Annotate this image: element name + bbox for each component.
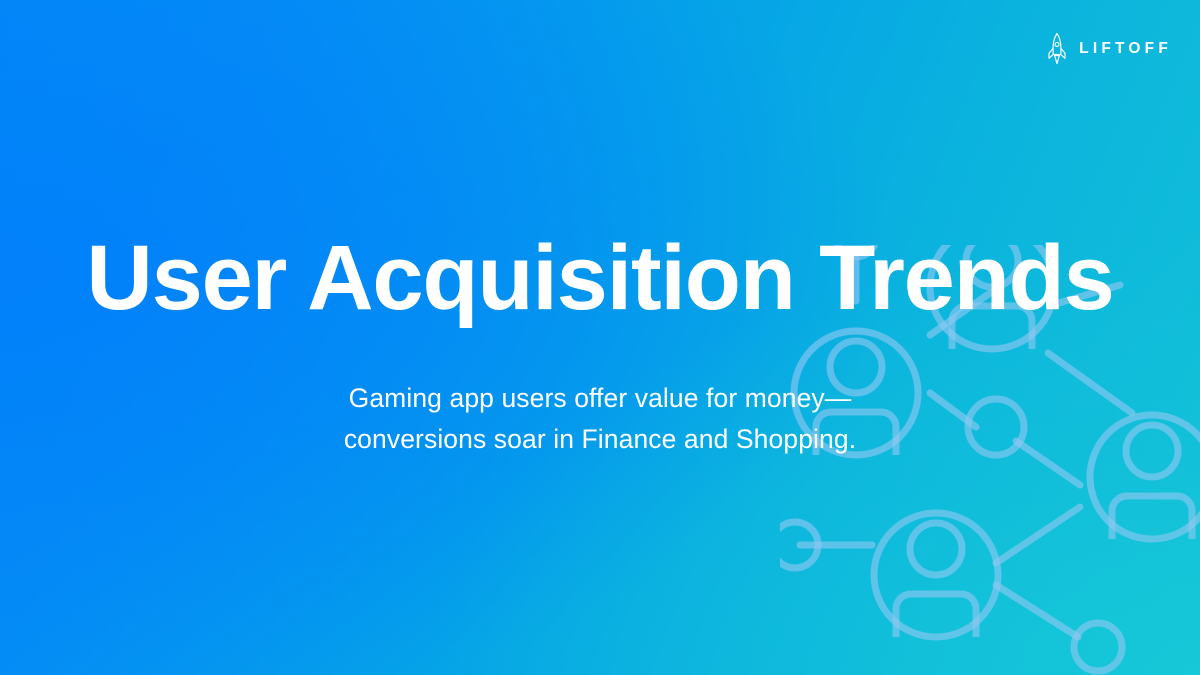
page-title: User Acquisition Trends bbox=[0, 232, 1200, 324]
slide-content: User Acquisition Trends Gaming app users… bbox=[0, 0, 1200, 675]
slide-root: LIFTOFF User Acquisition Trends Gaming a… bbox=[0, 0, 1200, 675]
slide-subtitle: Gaming app users offer value for money— … bbox=[0, 378, 1200, 460]
subtitle-line-1: Gaming app users offer value for money— bbox=[0, 378, 1200, 419]
subtitle-line-2: conversions soar in Finance and Shopping… bbox=[0, 419, 1200, 460]
